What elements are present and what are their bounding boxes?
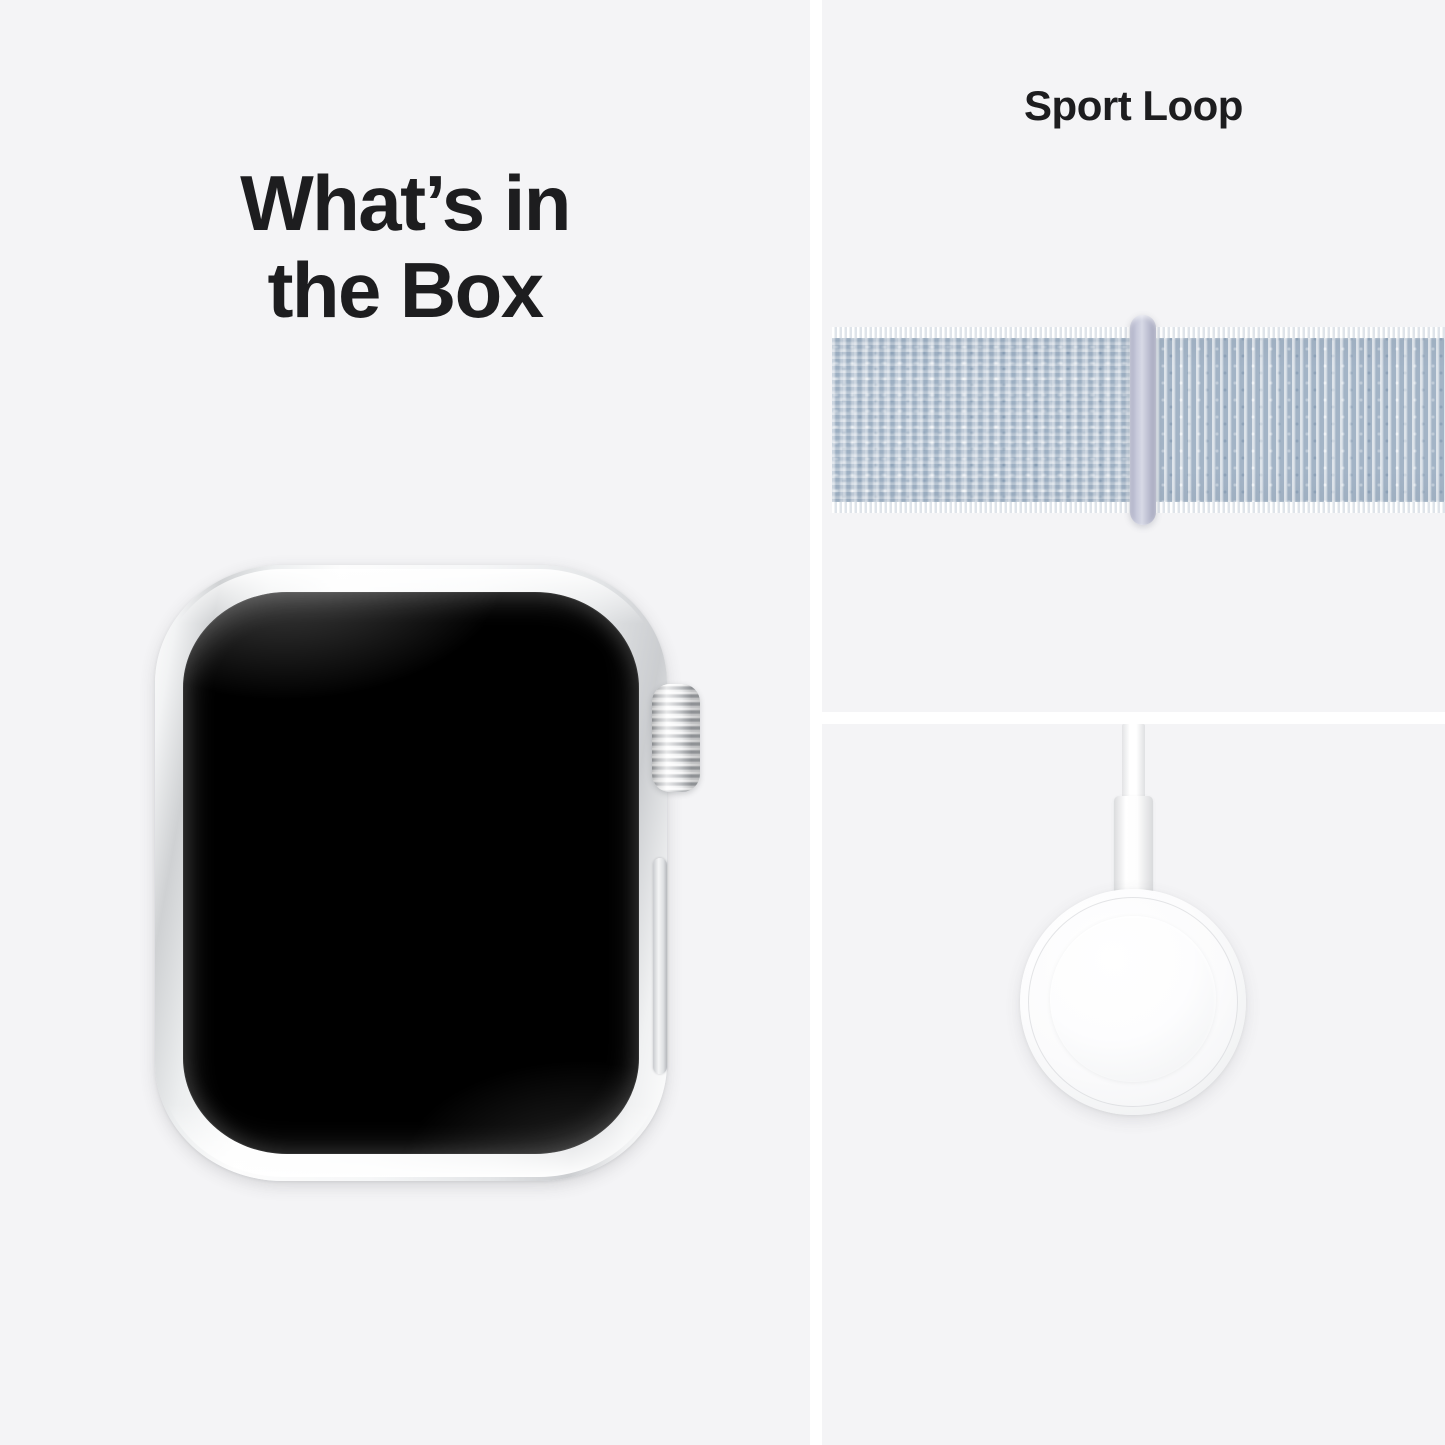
band-segment-right <box>1140 327 1445 513</box>
digital-crown-sheen <box>652 684 700 792</box>
charging-puck-inner-disc <box>1050 916 1216 1082</box>
band-edge-bottom <box>832 502 1150 513</box>
watch-side-button <box>653 858 667 1074</box>
band-weave-texture-b <box>1140 327 1445 513</box>
band-loop-keeper <box>1130 315 1156 525</box>
watch-display-screen <box>183 592 639 1154</box>
apple-watch-product-image <box>150 558 710 1188</box>
band-edge-bottom <box>1140 502 1445 513</box>
charging-cable-cord <box>1122 724 1145 802</box>
charging-cable-strain-relief <box>1114 796 1153 898</box>
digital-crown <box>652 684 700 792</box>
page-title-line-1: What’s in <box>0 160 810 247</box>
sport-loop-band-image <box>832 327 1445 513</box>
whats-in-the-box-image: What’s in the Box Sport Loop <box>0 0 1445 1445</box>
page-title: What’s in the Box <box>0 160 810 335</box>
panel-charging-cable: USB-C Magnetic Charging Cable <box>822 724 1445 1445</box>
band-edge-top <box>832 327 1150 338</box>
band-edge-top <box>1140 327 1445 338</box>
sport-loop-caption: Sport Loop <box>822 82 1445 130</box>
panel-whats-in-the-box: What’s in the Box <box>0 0 810 1445</box>
charging-cable-image <box>822 724 1445 1445</box>
band-segment-left <box>832 327 1150 513</box>
band-weave-texture-b <box>832 327 1150 513</box>
panel-sport-loop: Sport Loop <box>822 0 1445 712</box>
page-title-line-2: the Box <box>0 247 810 334</box>
